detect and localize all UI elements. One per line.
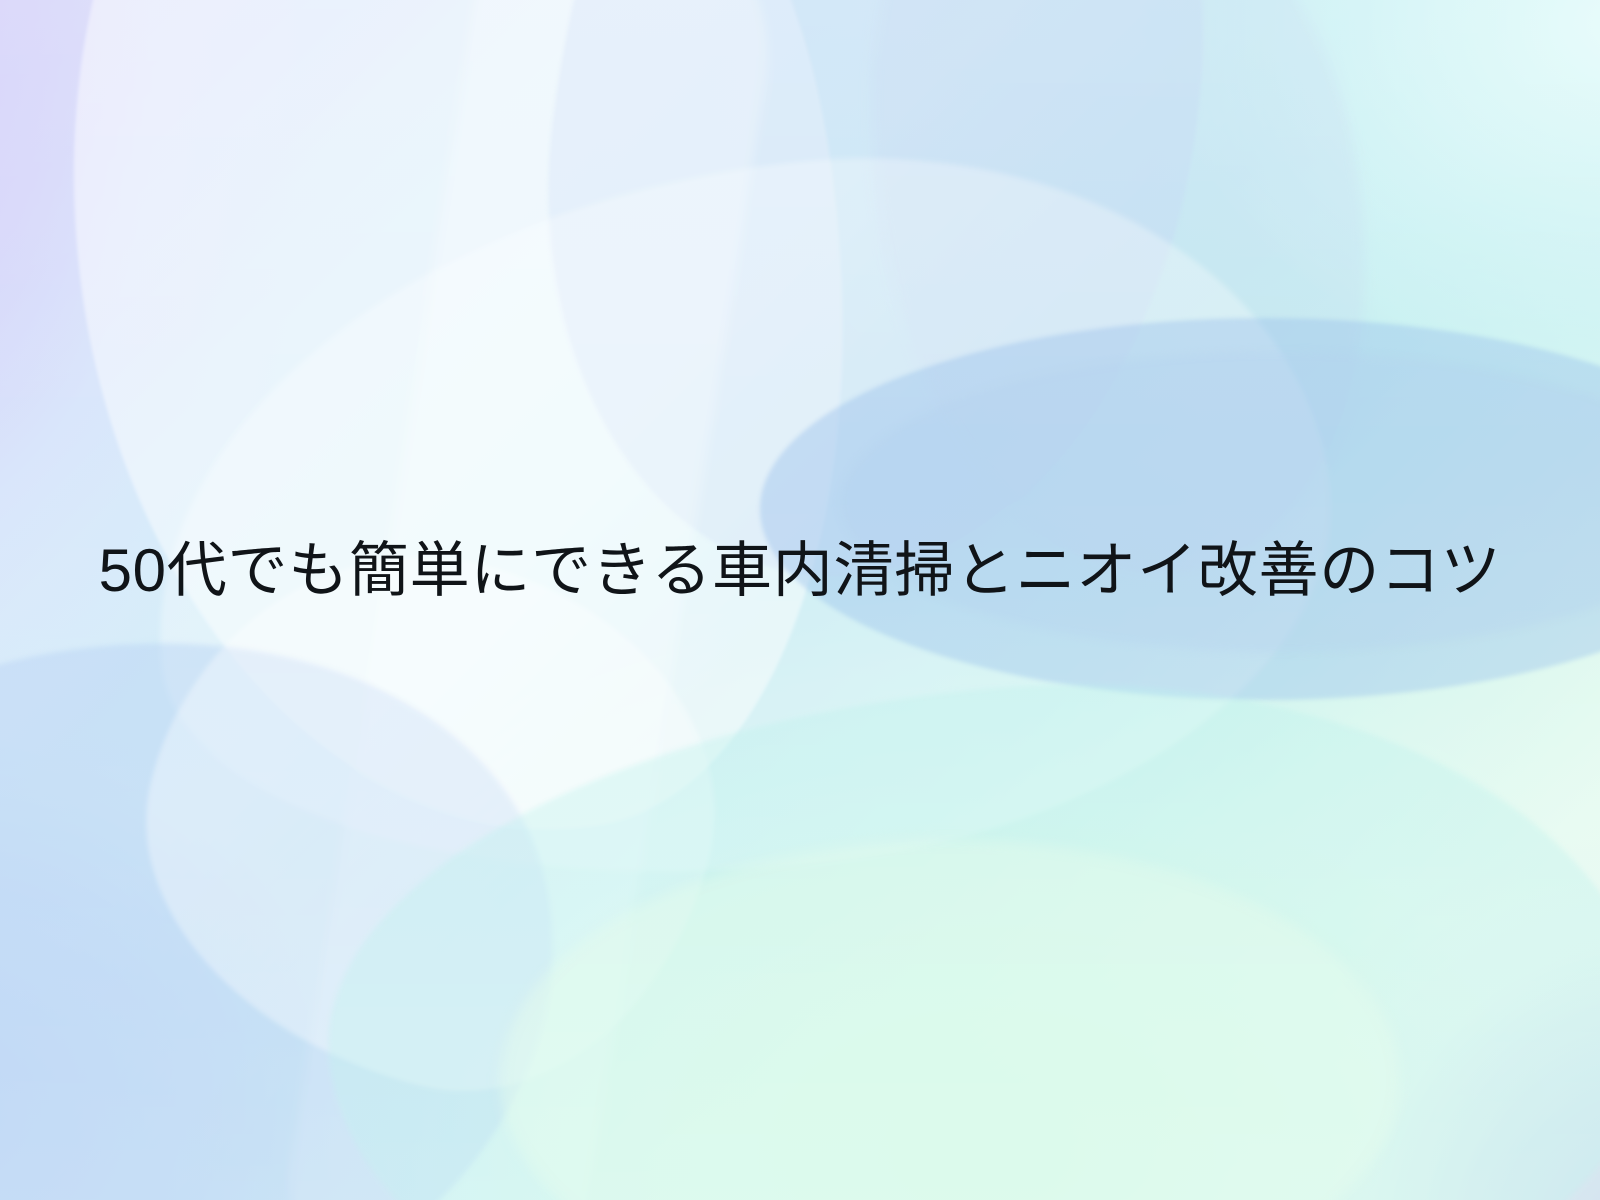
decorative-shape-cyan-sweep [302, 634, 1600, 1200]
decorative-shape-white-lens [0, 0, 928, 892]
slide-canvas: 50代でも簡単にできる車内清掃とニオイ改善のコツ [0, 0, 1600, 1200]
title-block: 50代でも簡単にできる車内清掃とニオイ改善のコツ [0, 505, 1600, 635]
decorative-shape-mint-glow [500, 840, 1400, 1200]
page-title: 50代でも簡単にできる車内清掃とニオイ改善のコツ [99, 536, 1502, 605]
decorative-shape-periwinkle-lobe [0, 549, 632, 1200]
